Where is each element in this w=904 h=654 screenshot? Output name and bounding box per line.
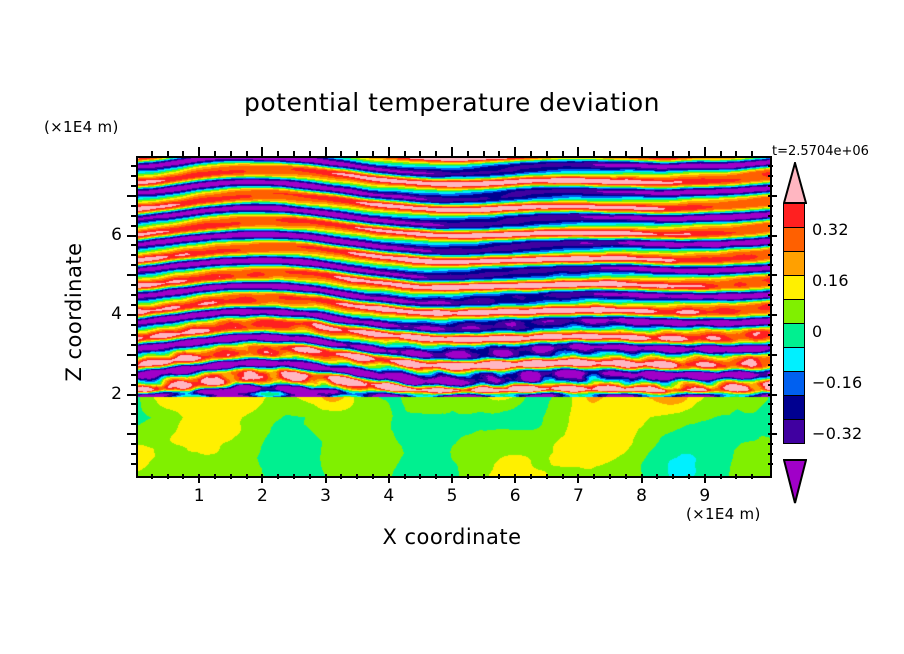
y-tick <box>131 334 136 336</box>
y-tick-label: 4 <box>90 304 122 324</box>
x-tick-top <box>451 147 453 156</box>
colorbar-band <box>783 371 805 397</box>
y-tick-right <box>768 463 773 465</box>
x-tick-top <box>593 151 595 156</box>
y-tick <box>131 185 136 187</box>
x-tick <box>325 474 327 483</box>
colorbar-over-arrow <box>783 162 807 204</box>
x-axis-label: X coordinate <box>0 525 904 549</box>
x-tick-top <box>261 147 263 156</box>
y-tick-right <box>768 394 777 396</box>
x-tick-label: 9 <box>685 486 725 506</box>
colorbar-under-arrow <box>783 458 807 504</box>
x-tick-top <box>546 151 548 156</box>
y-tick-right <box>768 374 773 376</box>
colorbar-band <box>783 227 805 253</box>
x-tick-label: 8 <box>622 486 662 506</box>
x-tick-top <box>562 151 564 156</box>
x-tick-top <box>751 151 753 156</box>
x-tick <box>625 474 627 479</box>
x-tick <box>751 474 753 479</box>
x-tick-top <box>435 151 437 156</box>
x-tick-top <box>230 151 232 156</box>
x-tick-top <box>404 151 406 156</box>
x-tick-top <box>309 151 311 156</box>
y-tick <box>127 195 136 197</box>
x-tick-top <box>246 151 248 156</box>
colorbar-band <box>783 275 805 301</box>
colorbar-tick-label: −0.16 <box>812 373 863 392</box>
x-tick <box>246 474 248 479</box>
y-axis-units: (×1E4 m) <box>44 118 119 136</box>
y-tick <box>131 443 136 445</box>
y-tick <box>127 314 136 316</box>
y-tick-right <box>768 304 773 306</box>
x-tick <box>656 474 658 479</box>
x-tick <box>562 474 564 479</box>
x-tick <box>151 474 153 479</box>
page-title: potential temperature deviation <box>0 88 904 117</box>
y-tick-label: 2 <box>90 384 122 404</box>
y-tick <box>131 374 136 376</box>
x-tick-top <box>625 151 627 156</box>
y-tick <box>131 423 136 425</box>
colorbar-tick-label: −0.32 <box>812 424 863 443</box>
y-tick <box>131 254 136 256</box>
y-tick <box>131 294 136 296</box>
colorbar <box>783 204 807 444</box>
y-tick-right <box>768 453 773 455</box>
x-tick <box>514 474 516 483</box>
x-tick-top <box>467 151 469 156</box>
x-tick-top <box>388 147 390 156</box>
contour-plot <box>136 156 772 478</box>
y-tick-right <box>768 264 773 266</box>
y-tick-right <box>768 185 773 187</box>
x-tick <box>451 474 453 483</box>
y-tick-right <box>768 235 777 237</box>
y-tick <box>127 433 136 435</box>
x-tick-top <box>151 151 153 156</box>
x-tick-label: 3 <box>306 486 346 506</box>
x-tick-label: 4 <box>369 486 409 506</box>
y-tick <box>131 304 136 306</box>
x-tick <box>419 474 421 479</box>
y-tick-right <box>768 314 777 316</box>
x-tick-top <box>182 151 184 156</box>
x-tick-top <box>325 147 327 156</box>
colorbar-band <box>783 203 805 229</box>
x-tick-top <box>293 151 295 156</box>
x-tick-top <box>656 151 658 156</box>
x-tick <box>309 474 311 479</box>
y-tick <box>127 394 136 396</box>
y-tick-right <box>768 324 773 326</box>
x-tick-label: 5 <box>432 486 472 506</box>
y-tick-right <box>768 254 773 256</box>
y-tick <box>131 244 136 246</box>
x-tick <box>704 474 706 483</box>
y-tick <box>131 463 136 465</box>
x-tick <box>720 474 722 479</box>
x-tick-top <box>483 151 485 156</box>
timestamp-annotation: t=2.5704e+06 <box>772 144 869 159</box>
y-tick <box>127 235 136 237</box>
y-tick <box>131 225 136 227</box>
colorbar-tick-label: 0 <box>812 322 822 341</box>
y-tick-right <box>768 195 777 197</box>
x-tick-top <box>641 147 643 156</box>
x-tick <box>182 474 184 479</box>
y-tick-right <box>768 205 773 207</box>
contour-canvas <box>138 158 770 476</box>
x-tick-top <box>214 151 216 156</box>
y-tick-right <box>768 413 773 415</box>
x-tick-label: 6 <box>495 486 535 506</box>
x-tick <box>735 474 737 479</box>
y-tick <box>131 215 136 217</box>
colorbar-band <box>783 347 805 373</box>
colorbar-tick-label: 0.32 <box>812 220 849 239</box>
y-tick-right <box>768 423 773 425</box>
y-tick <box>131 165 136 167</box>
x-axis-units: (×1E4 m) <box>686 505 761 523</box>
x-tick <box>483 474 485 479</box>
y-tick <box>131 264 136 266</box>
x-tick-top <box>419 151 421 156</box>
x-tick-top <box>609 151 611 156</box>
colorbar-band <box>783 395 805 421</box>
x-tick <box>261 474 263 483</box>
x-tick <box>198 474 200 483</box>
y-tick <box>131 364 136 366</box>
y-tick <box>127 354 136 356</box>
x-tick-top <box>672 151 674 156</box>
y-tick <box>131 384 136 386</box>
y-tick <box>131 284 136 286</box>
x-tick <box>277 474 279 479</box>
y-tick <box>131 453 136 455</box>
y-tick <box>131 324 136 326</box>
x-tick-top <box>735 151 737 156</box>
x-tick-top <box>514 147 516 156</box>
colorbar-band <box>783 251 805 277</box>
x-tick <box>340 474 342 479</box>
x-tick <box>530 474 532 479</box>
x-tick <box>404 474 406 479</box>
x-tick-top <box>498 151 500 156</box>
x-tick-top <box>340 151 342 156</box>
colorbar-band <box>783 419 805 445</box>
x-tick <box>167 474 169 479</box>
x-tick <box>372 474 374 479</box>
y-tick-label: 6 <box>90 225 122 245</box>
y-tick-right <box>768 443 773 445</box>
y-tick-right <box>768 344 773 346</box>
x-tick-top <box>577 147 579 156</box>
y-tick <box>127 274 136 276</box>
x-tick <box>577 474 579 483</box>
x-tick <box>609 474 611 479</box>
x-tick-top <box>372 151 374 156</box>
y-tick <box>131 403 136 405</box>
y-tick-right <box>768 364 773 366</box>
y-tick <box>131 413 136 415</box>
x-tick-top <box>688 151 690 156</box>
y-tick-right <box>768 215 773 217</box>
x-tick <box>641 474 643 483</box>
y-tick-right <box>768 284 773 286</box>
x-tick <box>593 474 595 479</box>
y-tick <box>131 205 136 207</box>
y-tick-right <box>768 165 773 167</box>
y-tick-right <box>768 433 777 435</box>
x-tick-label: 7 <box>558 486 598 506</box>
x-tick <box>435 474 437 479</box>
x-tick <box>672 474 674 479</box>
y-tick <box>131 344 136 346</box>
x-tick <box>467 474 469 479</box>
y-axis-label: Z coordinate <box>62 212 86 412</box>
colorbar-band <box>783 323 805 349</box>
colorbar-band <box>783 299 805 325</box>
x-tick <box>230 474 232 479</box>
x-tick-top <box>198 147 200 156</box>
x-tick-top <box>356 151 358 156</box>
x-tick <box>498 474 500 479</box>
x-tick <box>546 474 548 479</box>
y-tick-right <box>768 274 777 276</box>
y-tick-right <box>768 334 773 336</box>
y-tick-right <box>768 175 773 177</box>
x-tick <box>688 474 690 479</box>
x-tick <box>356 474 358 479</box>
x-tick-top <box>704 147 706 156</box>
x-tick-top <box>720 151 722 156</box>
y-tick-right <box>768 294 773 296</box>
y-tick <box>131 175 136 177</box>
y-tick-right <box>768 244 773 246</box>
y-tick-right <box>768 354 777 356</box>
x-tick-label: 1 <box>179 486 219 506</box>
x-tick-top <box>167 151 169 156</box>
x-tick <box>214 474 216 479</box>
y-tick-right <box>768 403 773 405</box>
x-tick-top <box>277 151 279 156</box>
x-tick-label: 2 <box>242 486 282 506</box>
x-tick <box>293 474 295 479</box>
colorbar-tick-label: 0.16 <box>812 271 849 290</box>
x-tick-top <box>530 151 532 156</box>
x-tick <box>388 474 390 483</box>
y-tick-right <box>768 225 773 227</box>
y-tick-right <box>768 384 773 386</box>
